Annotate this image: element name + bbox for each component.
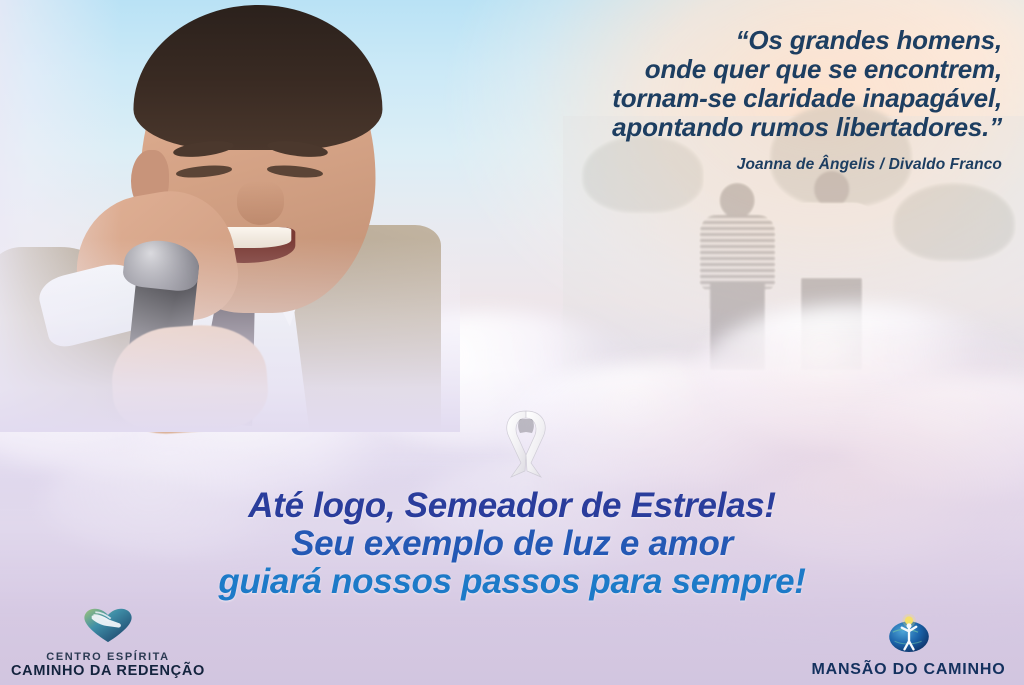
figure-head	[720, 183, 755, 219]
logo-left-line-2: CAMINHO DA REDENÇÃO	[8, 663, 208, 679]
logo-left-line-1: CENTRO ESPÍRITA	[8, 651, 208, 663]
quote-line-3: tornam-se claridade inapagável,	[362, 84, 1002, 113]
globe-with-figure-icon	[801, 614, 1016, 659]
logo-right-line-1: MANSÃO DO CAMINHO	[801, 661, 1016, 679]
headline-line-1: Até logo, Semeador de Estrelas!	[0, 487, 1024, 525]
quote-block: “Os grandes homens, onde quer que se enc…	[362, 26, 1002, 174]
logo-mansao-do-caminho[interactable]: MANSÃO DO CAMINHO	[801, 614, 1016, 679]
quote-attribution: Joanna de Ângelis / Divaldo Franco	[362, 156, 1002, 174]
white-ribbon-icon	[487, 405, 565, 485]
logo-centro-espirita[interactable]: CENTRO ESPÍRITA CAMINHO DA REDENÇÃO	[8, 604, 208, 679]
memorial-poster: “Os grandes homens, onde quer que se enc…	[0, 0, 1024, 685]
quote-line-1: “Os grandes homens,	[362, 26, 1002, 55]
headline-line-2: Seu exemplo de luz e amor	[0, 525, 1024, 563]
quote-line-4: apontando rumos libertadores.”	[362, 113, 1002, 142]
headline-block: Até logo, Semeador de Estrelas! Seu exem…	[0, 487, 1024, 601]
headline-line-3: guiará nossos passos para sempre!	[0, 563, 1024, 601]
palm-tree-icon	[893, 183, 1015, 261]
quote-line-2: onde quer que se encontrem,	[362, 55, 1002, 84]
heart-with-clasped-hands-icon	[8, 604, 208, 649]
figure-head	[814, 171, 850, 207]
